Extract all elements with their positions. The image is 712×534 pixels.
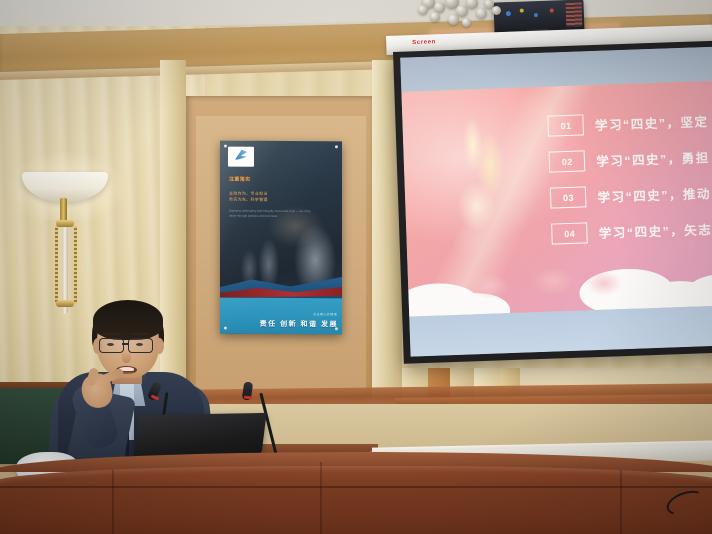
bullet-number: 02 <box>549 151 586 173</box>
chandelier-bead <box>448 14 459 25</box>
screen-surface: 01 学习“四史”，坚定 02 学习“四史”，勇担 03 学习“四史”，推动 0… <box>400 47 712 357</box>
bullet-text: 学习“四史”，推动 <box>597 183 711 206</box>
projector-vent <box>566 3 583 28</box>
conference-room-photo: 注重落实 主动作为、专业担当 务实为先、科学管理 Business philos… <box>0 0 712 534</box>
poster-screw <box>335 327 338 330</box>
poster-subline-2: 务实为先、科学管理 <box>229 197 268 203</box>
glasses-bridge <box>122 343 128 345</box>
chandelier-bead <box>418 5 428 15</box>
desk-vertical-seam <box>112 470 114 534</box>
presenter-nose <box>122 350 131 363</box>
desk-seam <box>0 486 712 488</box>
presentation-slide: 01 学习“四史”，坚定 02 学习“四史”，勇担 03 学习“四史”，推动 0… <box>401 81 712 317</box>
projection-screen: 01 学习“四史”，坚定 02 学习“四史”，勇担 03 学习“四史”，推动 0… <box>393 40 712 363</box>
bullet-number: 04 <box>551 223 588 245</box>
poster-headline: 注重落实 <box>229 177 251 184</box>
list-item: 02 学习“四史”，勇担 <box>549 144 712 173</box>
bullet-text: 学习“四史”，勇担 <box>596 147 710 170</box>
list-item: 03 学习“四史”，推动 <box>550 180 712 209</box>
desk-front-panel <box>0 466 712 534</box>
poster-screw <box>335 145 338 148</box>
glasses-lens-left <box>99 338 124 353</box>
chandelier <box>418 0 548 34</box>
wall-sconce-ring <box>56 220 74 227</box>
chandelier-bead <box>430 12 440 22</box>
screen-brand-label: Screen <box>412 39 436 46</box>
wall-sconce-chain <box>74 226 77 304</box>
company-logo-icon <box>228 147 254 167</box>
bullet-text: 学习“四史”，坚定 <box>595 111 709 134</box>
slide-bullet-list: 01 学习“四史”，坚定 02 学习“四史”，勇担 03 学习“四史”，推动 0… <box>548 108 712 260</box>
desk-vertical-seam <box>320 462 322 534</box>
poster-english-line: Business philosophy with integrity, focu… <box>229 209 315 219</box>
bullet-text: 学习“四史”，矢志 <box>598 219 712 242</box>
poster-subline: 主动作为、专业担当 务实为先、科学管理 <box>229 191 268 203</box>
wall-sconce-ring <box>56 300 74 307</box>
bullet-number: 03 <box>550 187 587 209</box>
bullet-number: 01 <box>548 115 585 137</box>
chandelier-bead <box>462 18 471 27</box>
chandelier-bead <box>476 8 487 19</box>
presenter-ear-right <box>155 338 164 354</box>
poster-values: 责任 创新 和谐 发展 <box>260 319 338 330</box>
list-item: 04 学习“四史”，矢志 <box>551 216 712 245</box>
wall-poster: 注重落实 主动作为、专业担当 务实为先、科学管理 Business philos… <box>220 141 342 335</box>
poster-footer-panel: 企业核心价值观 责任 创新 和谐 发展 <box>220 298 342 335</box>
projector-led <box>550 8 554 12</box>
poster-screw <box>224 145 227 148</box>
desk-vertical-seam <box>620 470 622 534</box>
chandelier-bead <box>466 0 478 9</box>
poster-screw <box>224 327 227 330</box>
poster-tagline: 企业核心价值观 <box>313 312 337 316</box>
chandelier-bead <box>492 6 501 15</box>
glasses-lens-right <box>128 338 153 353</box>
wall-sconce-chain <box>55 226 58 304</box>
